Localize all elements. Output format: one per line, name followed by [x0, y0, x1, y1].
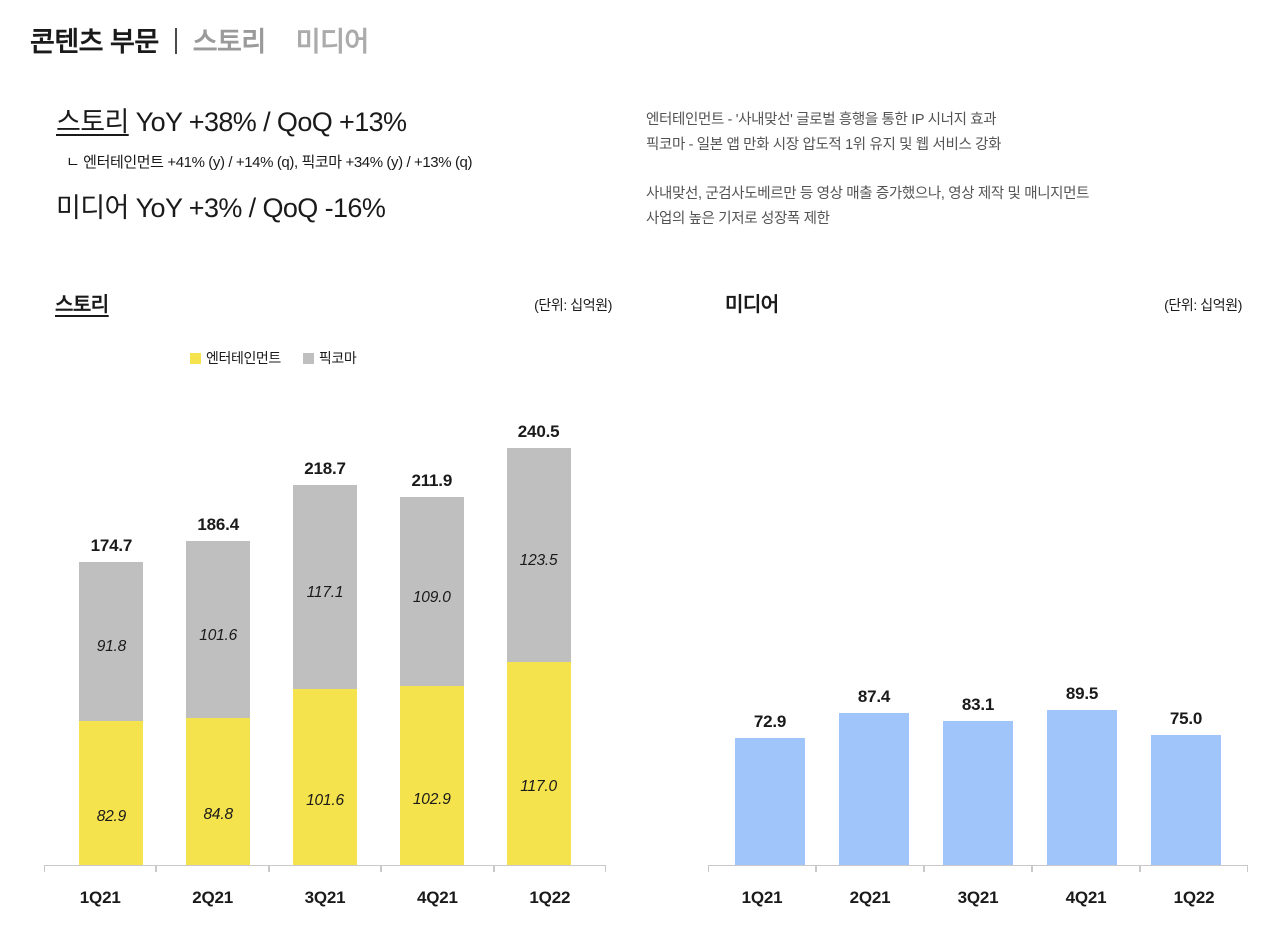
page-header: 콘텐츠 부문 스토리 미디어 — [30, 20, 369, 59]
axis-tick — [44, 865, 156, 872]
summary-story-line: 스토리 YoY +38% / QoQ +13% — [56, 100, 616, 139]
bar-column[interactable]: 186.4101.684.8 — [186, 541, 250, 865]
media-chart-title: 미디어 — [725, 288, 779, 317]
summary-media-line: 미디어 YoY +3% / QoQ -16% — [56, 186, 616, 225]
category-label: 1Q22 — [494, 888, 606, 908]
bar-segment[interactable]: 84.8 — [186, 718, 250, 865]
bar-total-label: 89.5 — [1066, 684, 1098, 704]
bar-segment-label: 101.6 — [199, 627, 237, 645]
bar-segment[interactable] — [1151, 735, 1221, 865]
media-x-axis-line — [708, 865, 1248, 866]
bar-segment-label: 91.8 — [97, 638, 126, 656]
bar-group: 72.9 — [718, 405, 822, 865]
media-x-axis-labels: 1Q212Q213Q214Q211Q22 — [708, 888, 1248, 908]
category-label: 1Q21 — [708, 888, 816, 908]
header-tab-media[interactable]: 미디어 — [296, 20, 369, 59]
bar-group: 75.0 — [1134, 405, 1238, 865]
notes-group-1: 엔터테인먼트 - '사내맞선' 글로벌 흥행을 통한 IP 시너지 효과 픽코마… — [646, 108, 1246, 158]
media-chart-unit: (단위: 십억원) — [1164, 295, 1242, 315]
note-line-media-2: 사업의 높은 기저로 성장폭 제한 — [646, 207, 1246, 232]
story-chart-panel: 스토리 (단위: 십억원) 엔터테인먼트 픽코마 174.791.882.918… — [30, 288, 630, 928]
bar-column[interactable]: 174.791.882.9 — [79, 562, 143, 865]
story-x-axis-ticks — [44, 865, 606, 872]
story-chart-unit: (단위: 십억원) — [534, 295, 612, 315]
summary-sub-line: ㄴ 엔터테인먼트 +41% (y) / +14% (q), 픽코마 +34% (… — [66, 151, 616, 172]
legend-item-entertainment[interactable]: 엔터테인먼트 — [190, 348, 281, 368]
legend-label-entertainment: 엔터테인먼트 — [206, 348, 281, 368]
bar-segment[interactable]: 91.8 — [79, 562, 143, 721]
bar-segment[interactable]: 109.0 — [400, 497, 464, 686]
bar-segment[interactable]: 101.6 — [186, 541, 250, 717]
notes-block: 엔터테인먼트 - '사내맞선' 글로벌 흥행을 통한 IP 시너지 효과 픽코마… — [646, 108, 1246, 232]
bar-total-label: 75.0 — [1170, 709, 1202, 729]
bar-segment[interactable]: 102.9 — [400, 686, 464, 865]
note-line-entertainment: 엔터테인먼트 - '사내맞선' 글로벌 흥행을 통한 IP 시너지 효과 — [646, 108, 1246, 133]
bar-group: 174.791.882.9 — [58, 405, 165, 865]
legend-item-piccoma[interactable]: 픽코마 — [303, 348, 356, 368]
bar-total-label: 186.4 — [197, 515, 239, 535]
media-bars: 72.987.483.189.575.0 — [718, 405, 1238, 865]
bar-total-label: 218.7 — [304, 459, 346, 479]
bar-column[interactable]: 218.7117.1101.6 — [293, 485, 357, 865]
bar-total-label: 72.9 — [754, 712, 786, 732]
summary-story-metrics: YoY +38% / QoQ +13% — [129, 107, 407, 137]
axis-tick — [1140, 865, 1248, 872]
bar-group: 186.4101.684.8 — [165, 405, 272, 865]
bar-total-label: 211.9 — [411, 471, 452, 491]
story-bars: 174.791.882.9186.4101.684.8218.7117.1101… — [58, 405, 592, 865]
legend-swatch-piccoma — [303, 353, 314, 364]
bar-total-label: 174.7 — [91, 536, 133, 556]
media-chart-panel: 미디어 (단위: 십억원) 72.987.483.189.575.0 1Q212… — [700, 288, 1260, 928]
header-divider — [175, 28, 177, 54]
bar-group: 240.5123.5117.0 — [485, 405, 592, 865]
axis-tick — [924, 865, 1032, 872]
axis-tick — [1032, 865, 1140, 872]
page-title: 콘텐츠 부문 — [30, 20, 159, 59]
bar-segment[interactable]: 117.0 — [507, 662, 571, 865]
bar-total-label: 240.5 — [518, 422, 560, 442]
category-label: 2Q21 — [816, 888, 924, 908]
bar-segment-label: 109.0 — [413, 589, 451, 607]
category-label: 4Q21 — [381, 888, 493, 908]
bar-column[interactable]: 89.5 — [1047, 710, 1117, 865]
bar-segment[interactable]: 117.1 — [293, 485, 357, 688]
story-chart-title: 스토리 — [55, 288, 109, 317]
bar-group: 83.1 — [926, 405, 1030, 865]
axis-tick — [381, 865, 493, 872]
summary-block: 스토리 YoY +38% / QoQ +13% ㄴ 엔터테인먼트 +41% (y… — [56, 100, 616, 225]
axis-tick — [494, 865, 606, 872]
story-plot-area: 174.791.882.9186.4101.684.8218.7117.1101… — [30, 388, 630, 928]
bar-group: 89.5 — [1030, 405, 1134, 865]
bar-segment-label: 82.9 — [97, 808, 126, 826]
bar-segment[interactable] — [943, 721, 1013, 865]
media-x-axis-ticks — [708, 865, 1248, 872]
bar-segment-label: 101.6 — [306, 792, 344, 810]
bar-column[interactable]: 83.1 — [943, 721, 1013, 865]
category-label: 4Q21 — [1032, 888, 1140, 908]
axis-tick — [708, 865, 816, 872]
bar-segment-label: 117.0 — [520, 778, 557, 796]
bar-column[interactable]: 75.0 — [1151, 735, 1221, 865]
bar-total-label: 83.1 — [962, 695, 994, 715]
category-label: 3Q21 — [269, 888, 381, 908]
bar-segment[interactable]: 123.5 — [507, 448, 571, 662]
bar-group: 211.9109.0102.9 — [378, 405, 485, 865]
legend-swatch-entertainment — [190, 353, 201, 364]
media-plot-area: 72.987.483.189.575.0 1Q212Q213Q214Q211Q2… — [700, 388, 1260, 928]
bar-segment[interactable]: 82.9 — [79, 721, 143, 865]
story-chart-legend: 엔터테인먼트 픽코마 — [190, 348, 356, 368]
summary-story-label: 스토리 — [56, 107, 129, 137]
bar-segment[interactable] — [839, 713, 909, 865]
bar-segment-label: 84.8 — [204, 806, 233, 824]
bar-column[interactable]: 211.9109.0102.9 — [400, 497, 464, 865]
note-line-piccoma: 픽코마 - 일본 앱 만화 시장 압도적 1위 유지 및 웹 서비스 강화 — [646, 133, 1246, 158]
bar-column[interactable]: 72.9 — [735, 738, 805, 865]
axis-tick — [156, 865, 268, 872]
bar-segment-label: 123.5 — [520, 552, 558, 570]
axis-tick — [269, 865, 381, 872]
category-label: 2Q21 — [156, 888, 268, 908]
notes-group-2: 사내맞선, 군검사도베르만 등 영상 매출 증가했으나, 영상 제작 및 매니지… — [646, 182, 1246, 232]
bar-group: 218.7117.1101.6 — [272, 405, 379, 865]
bar-segment[interactable] — [735, 738, 805, 865]
category-label: 3Q21 — [924, 888, 1032, 908]
category-label: 1Q22 — [1140, 888, 1248, 908]
bar-segment-label: 117.1 — [307, 584, 344, 602]
category-label: 1Q21 — [44, 888, 156, 908]
bar-group: 87.4 — [822, 405, 926, 865]
bar-segment[interactable]: 101.6 — [293, 689, 357, 865]
story-x-axis-labels: 1Q212Q213Q214Q211Q22 — [44, 888, 606, 908]
legend-label-piccoma: 픽코마 — [319, 348, 356, 368]
header-tab-story[interactable]: 스토리 — [193, 20, 266, 59]
bar-segment[interactable] — [1047, 710, 1117, 865]
story-x-axis-line — [44, 865, 606, 866]
note-line-media-1: 사내맞선, 군검사도베르만 등 영상 매출 증가했으나, 영상 제작 및 매니지… — [646, 182, 1246, 207]
axis-tick — [816, 865, 924, 872]
bar-column[interactable]: 240.5123.5117.0 — [507, 448, 571, 865]
bar-column[interactable]: 87.4 — [839, 713, 909, 865]
bar-total-label: 87.4 — [858, 687, 890, 707]
bar-segment-label: 102.9 — [413, 791, 451, 809]
